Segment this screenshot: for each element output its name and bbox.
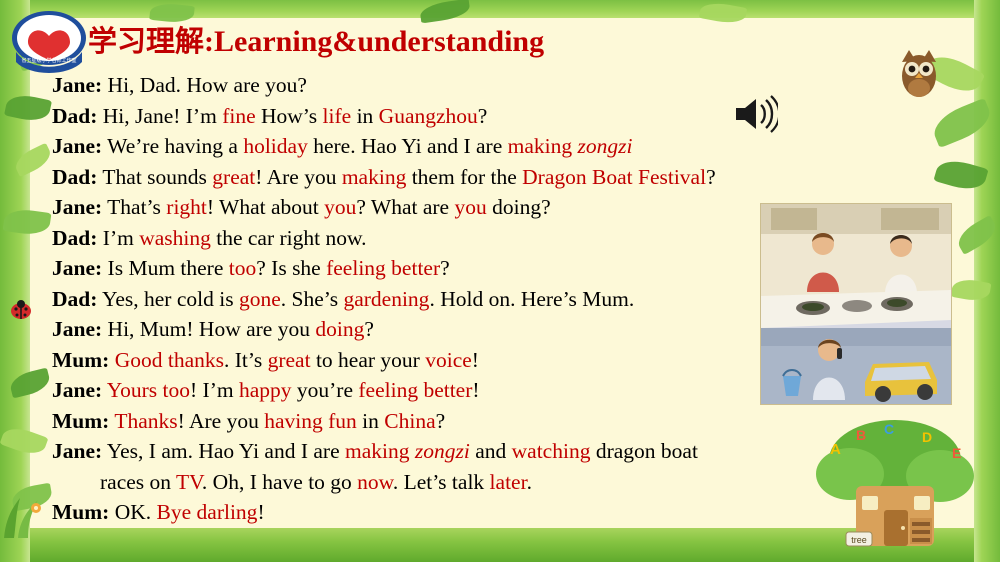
- dialogue-line: Jane: We’re having a holiday here. Hao Y…: [52, 131, 952, 162]
- dialogue-line: Dad: Hi, Jane! I’m fine How’s life in Gu…: [52, 101, 952, 132]
- dialogue-line: Dad: That sounds great! Are you making t…: [52, 162, 952, 193]
- plain-text: !: [472, 378, 479, 402]
- speaker-label: Jane:: [52, 256, 102, 280]
- svg-text:A: A: [830, 441, 841, 458]
- plain-text: That’s: [102, 195, 166, 219]
- title-english: Learning&understanding: [214, 25, 544, 58]
- slide: 省五星级小学名师工作室 学习理解:Learning&understanding: [0, 0, 1000, 562]
- speaker-label: Dad:: [52, 226, 97, 250]
- speaker-label: Jane:: [52, 195, 102, 219]
- speaker-label: Jane:: [52, 134, 102, 158]
- plain-text: . Hold on. Here’s Mum.: [429, 287, 634, 311]
- plain-text: OK.: [109, 500, 156, 524]
- plain-text: ?: [364, 317, 374, 341]
- highlighted-text: making: [508, 134, 578, 158]
- school-logo: 省五星级小学名师工作室: [8, 8, 90, 74]
- plain-text: ! Are you: [178, 409, 265, 433]
- highlighted-text: gardening: [343, 287, 429, 311]
- plain-text: I’m: [97, 226, 139, 250]
- plain-text: here. Hao Yi and I are: [308, 134, 508, 158]
- highlighted-text: washing: [139, 226, 211, 250]
- plain-text: ! Are you: [255, 165, 342, 189]
- highlighted-text: China: [384, 409, 435, 433]
- speaker-label: Jane:: [52, 73, 102, 97]
- dialogue-line: Jane: Hi, Dad. How are you?: [52, 70, 952, 101]
- plain-text: ?: [706, 165, 716, 189]
- plain-text: the car right now.: [211, 226, 367, 250]
- plain-text: ! I’m: [190, 378, 239, 402]
- highlighted-text: fine: [222, 104, 255, 128]
- highlighted-text: TV: [176, 470, 202, 494]
- svg-text:D: D: [922, 429, 932, 445]
- plain-text: them for the: [406, 165, 522, 189]
- svg-text:tree: tree: [851, 535, 867, 545]
- plain-text: . It’s: [224, 348, 268, 372]
- highlighted-text: voice: [425, 348, 472, 372]
- plain-text: to hear your: [311, 348, 426, 372]
- plain-text: !: [257, 500, 264, 524]
- speaker-label: Dad:: [52, 165, 97, 189]
- highlighted-text: now: [357, 470, 393, 494]
- speaker-label: Mum:: [52, 500, 109, 524]
- plain-text: ?: [440, 256, 450, 280]
- highlighted-text: watching: [512, 439, 591, 463]
- plain-text: dragon boat: [590, 439, 697, 463]
- plain-text: !: [472, 348, 479, 372]
- highlighted-text: happy: [239, 378, 292, 402]
- plain-text: . Let’s talk: [393, 470, 490, 494]
- highlighted-text: great: [268, 348, 311, 372]
- highlighted-text: Bye darling: [157, 500, 258, 524]
- plain-text: in: [357, 409, 384, 433]
- highlighted-text: zongzi: [577, 134, 632, 158]
- plain-text: races on: [100, 470, 176, 494]
- plain-text: We’re having a: [102, 134, 243, 158]
- highlighted-text: Yours too: [107, 378, 190, 402]
- svg-text:B: B: [856, 427, 866, 443]
- highlighted-text: great: [212, 165, 255, 189]
- title-chinese: 学习理解: [88, 24, 204, 58]
- highlighted-text: gone: [239, 287, 281, 311]
- plain-text: Hi, Dad. How are you?: [102, 73, 307, 97]
- svg-text:E: E: [952, 445, 961, 461]
- highlighted-text: zongzi: [415, 439, 470, 463]
- highlighted-text: feeling better: [358, 378, 472, 402]
- plain-text: Hi, Mum! How are you: [102, 317, 315, 341]
- plain-text: ?: [436, 409, 446, 433]
- plain-text: ?: [478, 104, 488, 128]
- highlighted-text: feeling better: [326, 256, 440, 280]
- speaker-label: Jane:: [52, 317, 102, 341]
- speaker-label: Jane:: [52, 439, 102, 463]
- plain-text: Yes, her cold is: [97, 287, 239, 311]
- plain-text: . She’s: [281, 287, 344, 311]
- highlighted-text: Thanks: [114, 409, 177, 433]
- plain-text: doing?: [487, 195, 551, 219]
- svg-text:C: C: [884, 421, 894, 437]
- plain-text: in: [351, 104, 378, 128]
- highlighted-text: right: [166, 195, 207, 219]
- tree-house-icon: tree A B C D E: [800, 414, 990, 554]
- highlighted-text: life: [323, 104, 352, 128]
- plain-text: . Oh, I have to go: [202, 470, 357, 494]
- plain-text: .: [527, 470, 532, 494]
- highlighted-text: you: [324, 195, 356, 219]
- plain-text: Is Mum there: [102, 256, 229, 280]
- plain-text: Yes, I am. Hao Yi and I are: [102, 439, 345, 463]
- highlighted-text: too: [229, 256, 256, 280]
- ladybug-icon: [8, 300, 34, 320]
- plain-text: and: [470, 439, 512, 463]
- speaker-icon[interactable]: [732, 94, 778, 134]
- grass-decoration: [0, 468, 60, 538]
- title-separator: :: [204, 25, 214, 58]
- lesson-illustration: [760, 203, 952, 405]
- speaker-label: Mum:: [52, 348, 109, 372]
- speaker-label: Jane:: [52, 378, 102, 402]
- speaker-label: Dad:: [52, 104, 97, 128]
- highlighted-text: making: [342, 165, 407, 189]
- plain-text: ! What about: [207, 195, 324, 219]
- highlighted-text: holiday: [243, 134, 308, 158]
- speaker-label: Dad:: [52, 287, 97, 311]
- highlighted-text: you: [454, 195, 486, 219]
- highlighted-text: Guangzhou: [379, 104, 478, 128]
- highlighted-text: having fun: [264, 409, 357, 433]
- plain-text: ? What are: [356, 195, 454, 219]
- highlighted-text: doing: [315, 317, 364, 341]
- plain-text: Hi, Jane! I’m: [97, 104, 222, 128]
- plain-text: That sounds: [97, 165, 212, 189]
- plain-text: How’s: [256, 104, 323, 128]
- highlighted-text: making: [345, 439, 415, 463]
- highlighted-text: later: [490, 470, 527, 494]
- plain-text: you’re: [292, 378, 359, 402]
- plain-text: ? Is she: [256, 256, 326, 280]
- speaker-label: Mum:: [52, 409, 109, 433]
- svg-text:省五星级小学名师工作室: 省五星级小学名师工作室: [21, 57, 76, 64]
- highlighted-text: Dragon Boat Festival: [522, 165, 706, 189]
- owl-icon: [896, 42, 942, 100]
- page-title: 学习理解:Learning&understanding: [88, 18, 544, 60]
- highlighted-text: Good thanks: [115, 348, 224, 372]
